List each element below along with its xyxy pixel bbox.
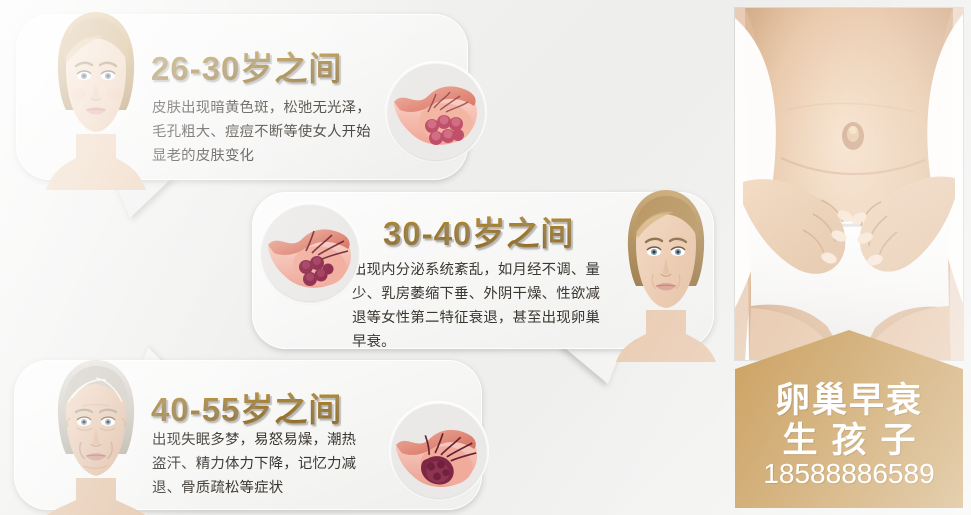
portrait-young-woman — [38, 6, 154, 190]
ovary-declining-icon — [262, 205, 358, 301]
banner-phone-number[interactable]: 18588886589 — [735, 458, 963, 490]
body-text-30-40: 出现内分泌系统紊乱，如月经不调、量少、乳房萎缩下垂、外阴干燥、性欲减退等女性第二… — [352, 258, 604, 354]
heading-40-55: 40-55岁之间 — [151, 383, 342, 431]
body-text-26-30: 皮肤出现暗黄色斑，松弛无光泽，毛孔粗大、痘痘不断等使女人开始显老的皮肤变化 — [152, 96, 380, 168]
poster-canvas: 卵巢早衰 生孩子 18588886589 26-30岁之间 26-30岁之间 皮… — [0, 0, 971, 515]
abdomen-photo — [735, 8, 963, 360]
ovary-healthy-icon — [388, 64, 484, 160]
portrait-older-woman — [38, 358, 154, 515]
abdomen-photo-illustration — [735, 8, 963, 360]
heading-30-40: 30-40岁之间 — [383, 207, 574, 255]
banner-line-2: 生孩子 — [735, 412, 963, 463]
portrait-middleage-woman — [608, 186, 724, 362]
heading-26-30: 26-30岁之间 — [151, 42, 342, 90]
ovary-aged-icon — [392, 404, 486, 498]
body-text-40-55: 出现失眠多梦，易怒易燥，潮热盗汗、精力体力下降，记忆力减退、骨质疏松等症状 — [152, 428, 362, 500]
